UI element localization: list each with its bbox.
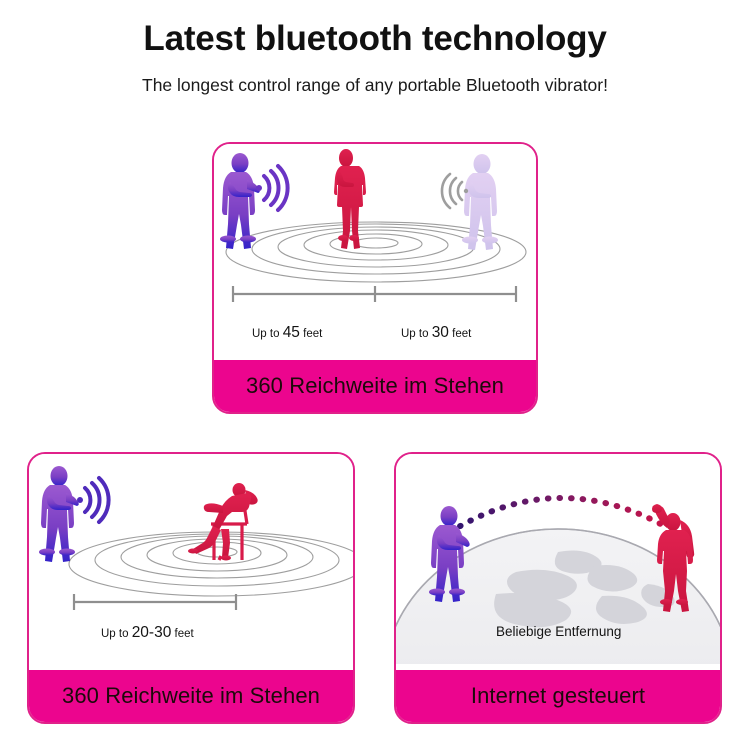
card-1-banner: 360 Reichweite im Stehen: [214, 360, 536, 412]
card-1-banner-label: 360 Reichweite im Stehen: [246, 373, 504, 399]
range-label-right-suffix: feet: [449, 328, 471, 340]
card-3-illustration: Beliebige Entfernung: [396, 454, 720, 664]
page-title: Latest bluetooth technology: [0, 0, 750, 59]
page-subtitle: The longest control range of any portabl…: [0, 59, 750, 95]
signal-waves-right: [442, 174, 468, 208]
range-label-right: Up to 30 feet: [401, 324, 471, 342]
range-label-suffix: feet: [171, 628, 193, 640]
distance-label: Beliebige Entfernung: [496, 624, 621, 639]
standing-range-scene: [214, 144, 536, 354]
figure-man-left: [39, 466, 79, 562]
card-2-banner-label: 360 Reichweite im Stehen: [62, 683, 320, 709]
page-header: Latest bluetooth technology The longest …: [0, 0, 750, 95]
card-2-banner: 360 Reichweite im Stehen: [29, 670, 353, 722]
dotted-connection-arc: [450, 498, 668, 532]
range-label-left-prefix: Up to: [252, 328, 283, 340]
card-standing-range[interactable]: Up to 45 feet Up to 30 feet 360 Reichwei…: [212, 142, 538, 414]
range-ruler: [232, 286, 517, 302]
card-2-illustration: Up to 20-30 feet: [29, 454, 353, 664]
ripple-rings: [226, 222, 526, 282]
range-label-right-value: 30: [432, 324, 449, 341]
distance-label-text: Beliebige Entfernung: [496, 624, 621, 639]
signal-waves-left: [77, 478, 109, 522]
range-label-left: Up to 45 feet: [252, 324, 322, 342]
range-label-left-suffix: feet: [300, 328, 322, 340]
card-3-banner-label: Internet gesteuert: [471, 683, 645, 709]
figure-woman-seated: [188, 483, 258, 561]
range-label-right-prefix: Up to: [401, 328, 432, 340]
range-label-prefix: Up to: [101, 628, 132, 640]
range-label-left-value: 45: [283, 324, 300, 341]
card-internet-controlled[interactable]: Beliebige Entfernung Internet gesteuert: [394, 452, 722, 724]
card-1-illustration: Up to 45 feet Up to 30 feet: [214, 144, 536, 354]
range-label-value: 20-30: [132, 624, 172, 641]
signal-waves-left: [256, 166, 288, 210]
card-3-banner: Internet gesteuert: [396, 670, 720, 722]
range-label: Up to 20-30 feet: [101, 624, 194, 642]
card-seated-range[interactable]: Up to 20-30 feet 360 Reichweite im Stehe…: [27, 452, 355, 724]
